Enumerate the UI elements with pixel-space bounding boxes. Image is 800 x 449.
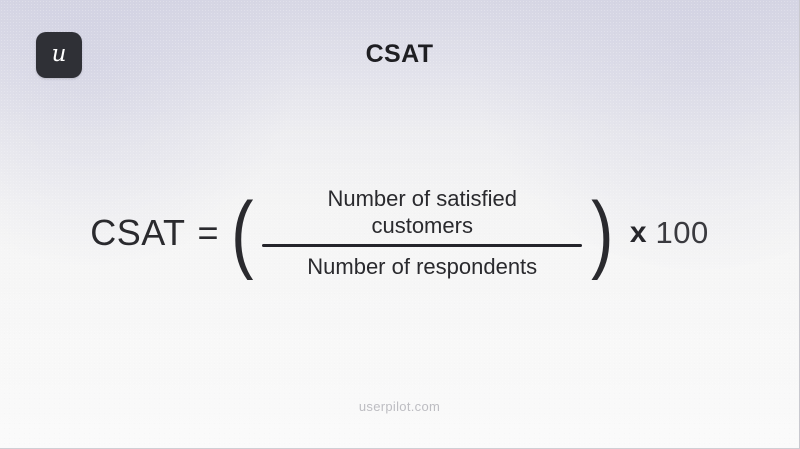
page-title: CSAT (0, 40, 799, 69)
fraction-numerator: Number of satisfied customers (319, 186, 525, 244)
formula-factor: 100 (656, 215, 709, 251)
csat-formula: CSAT = ( Number of satisfied customers N… (0, 186, 799, 280)
formula-multiplication-sign: x (630, 216, 647, 250)
footer-attribution: userpilot.com (0, 399, 799, 414)
formula-left-term: CSAT (90, 212, 185, 254)
formula-equals-sign: = (198, 212, 219, 254)
fraction-denominator: Number of respondents (299, 247, 545, 281)
formula-fraction: Number of satisfied customers Number of … (262, 186, 582, 280)
csat-formula-slide: u CSAT CSAT = ( Number of satisfied cust… (0, 0, 800, 449)
